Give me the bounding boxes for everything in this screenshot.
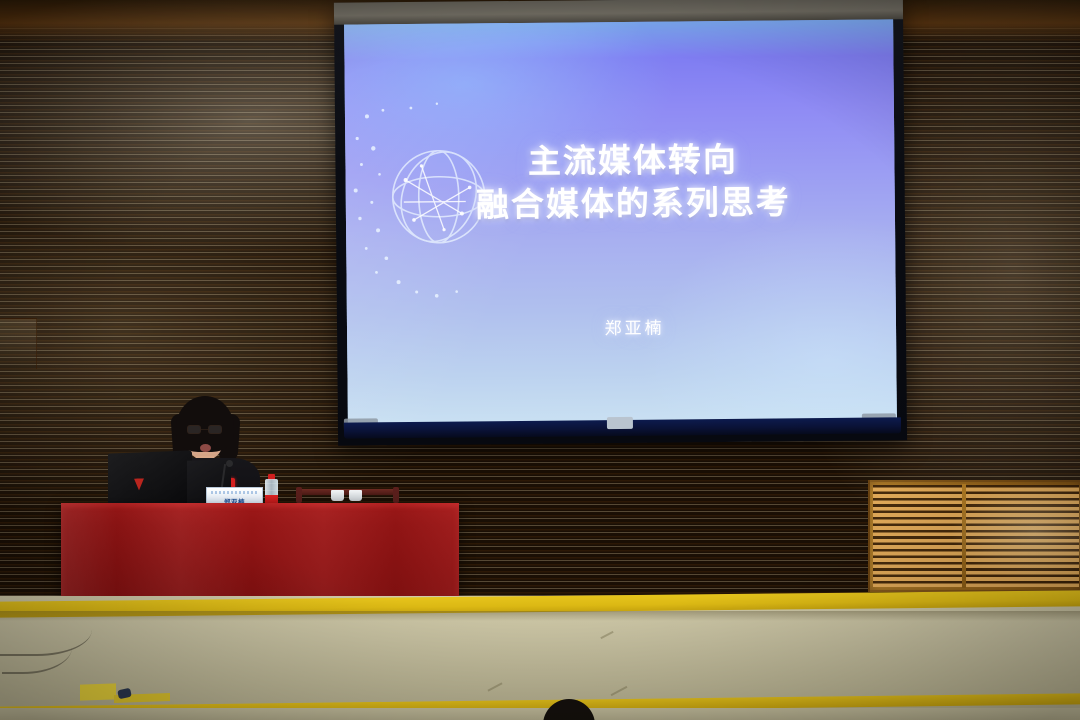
projection-screen: 主流媒体转向 融合媒体的系列思考 郑亚楠 <box>334 0 907 446</box>
wall-panel-seam <box>0 318 37 369</box>
slide-presenter-name: 郑亚楠 <box>347 311 896 341</box>
slide-title-line-1: 主流媒体转向 <box>528 140 738 181</box>
laptop <box>108 450 192 506</box>
cup-one <box>331 490 344 501</box>
cup-two <box>349 490 362 501</box>
chair-left <box>296 487 302 503</box>
wall-vent-grille <box>868 480 1080 592</box>
stage-edge-shadow <box>0 611 1080 621</box>
vent-highlight <box>870 482 1080 590</box>
lecture-hall-photo: 主流媒体转向 融合媒体的系列思考 郑亚楠 郑亚楠 <box>0 0 1080 720</box>
slide-title: 主流媒体转向 融合媒体的系列思考 <box>345 137 895 228</box>
glasses-bridge <box>201 429 208 430</box>
stage-lower-floor <box>0 708 1080 720</box>
laptop-logo-icon <box>134 478 144 490</box>
chair-back-rail <box>296 489 399 495</box>
cable-cover-tape <box>80 683 116 700</box>
slide-surface: 主流媒体转向 融合媒体的系列思考 郑亚楠 <box>344 19 897 424</box>
nameplate-header-strip <box>211 491 257 494</box>
glasses-lens-right <box>208 425 222 434</box>
slide-title-line-2: 融合媒体的系列思考 <box>372 180 895 228</box>
glasses-lens-left <box>187 425 201 434</box>
microphone-head <box>226 460 233 467</box>
speaker-mouth <box>200 444 211 452</box>
speaker-glasses <box>186 425 224 434</box>
chair-right <box>393 487 399 503</box>
